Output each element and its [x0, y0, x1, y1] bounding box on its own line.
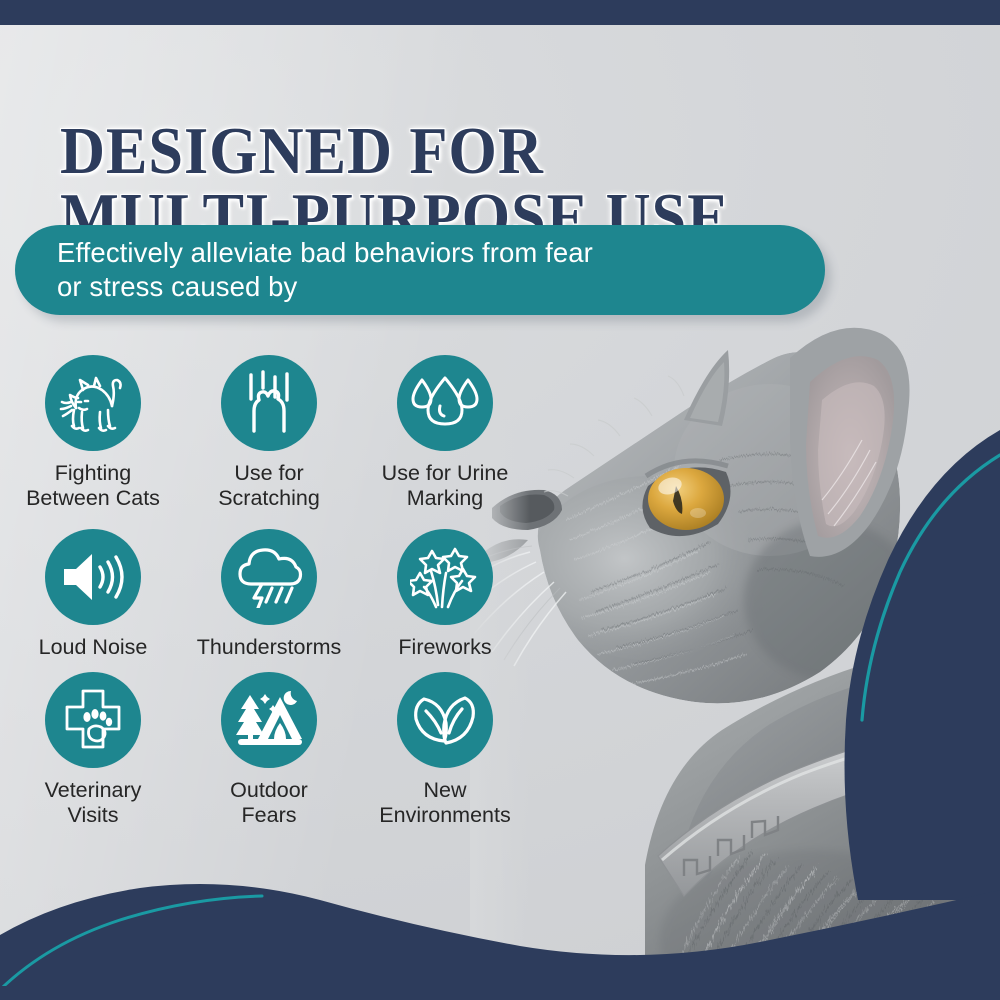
veterinary-cross-paw-icon	[45, 672, 141, 768]
feature-label: Loud Noise	[39, 635, 148, 660]
subtitle-banner-text: Effectively alleviate bad behaviors from…	[15, 236, 627, 304]
feature-label: Outdoor Fears	[230, 778, 308, 828]
feature-item-fireworks: Fireworks	[357, 529, 533, 660]
thunderstorm-cloud-icon	[221, 529, 317, 625]
feature-label: Use for Scratching	[218, 461, 320, 511]
feature-row: Fighting Between Cats Use for Scratc	[0, 355, 540, 511]
hissing-cat-icon	[45, 355, 141, 451]
feature-item-new-environments: New Environments	[357, 672, 533, 828]
feature-label: Veterinary Visits	[45, 778, 142, 828]
row-spacer	[0, 660, 540, 672]
row-spacer	[0, 511, 540, 529]
feature-row: Veterinary Visits	[0, 672, 540, 828]
feature-item-use-for-urine-marking: Use for Urine Marking	[357, 355, 533, 511]
infographic-page: DESIGNED FOR MULTI-PURPOSE USE Effective…	[0, 0, 1000, 1000]
feature-label: New Environments	[379, 778, 510, 828]
feature-item-fighting-between-cats: Fighting Between Cats	[5, 355, 181, 511]
feature-item-loud-noise: Loud Noise	[5, 529, 181, 660]
loud-speaker-icon	[45, 529, 141, 625]
scratching-paw-icon	[221, 355, 317, 451]
camping-tent-icon	[221, 672, 317, 768]
feature-item-use-for-scratching: Use for Scratching	[181, 355, 357, 511]
headline-line-1: DESIGNED FOR	[60, 114, 544, 188]
feature-item-thunderstorms: Thunderstorms	[181, 529, 357, 660]
feature-item-veterinary-visits: Veterinary Visits	[5, 672, 181, 828]
feature-item-outdoor-fears: Outdoor Fears	[181, 672, 357, 828]
top-navy-bar	[0, 0, 1000, 25]
feature-label: Fighting Between Cats	[26, 461, 160, 511]
fireworks-stars-icon	[397, 529, 493, 625]
leaves-sprout-icon	[397, 672, 493, 768]
feature-label: Use for Urine Marking	[382, 461, 509, 511]
subtitle-banner: Effectively alleviate bad behaviors from…	[15, 225, 825, 315]
urine-droplets-icon	[397, 355, 493, 451]
feature-label: Fireworks	[398, 635, 491, 660]
feature-grid: Fighting Between Cats Use for Scratc	[0, 355, 540, 828]
bottom-navy-bar	[0, 986, 1000, 1000]
feature-label: Thunderstorms	[197, 635, 342, 660]
feature-row: Loud Noise Thunderstorms	[0, 529, 540, 660]
